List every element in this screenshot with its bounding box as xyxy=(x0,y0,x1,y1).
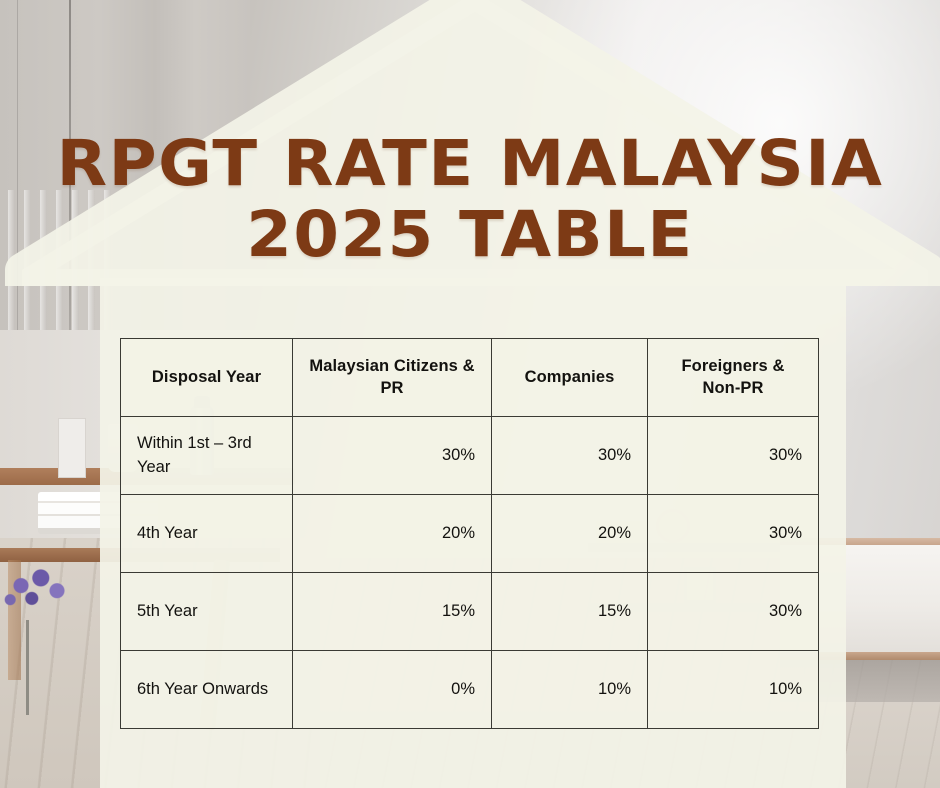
cell-foreigners-rate: 30% xyxy=(648,417,819,495)
table-row: 5th Year 15% 15% 30% xyxy=(121,573,819,651)
table-row: Within 1st – 3rd Year 30% 30% 30% xyxy=(121,417,819,495)
cell-foreigners-rate: 30% xyxy=(648,573,819,651)
table-row: 6th Year Onwards 0% 10% 10% xyxy=(121,651,819,729)
table-body: Within 1st – 3rd Year 30% 30% 30% 4th Ye… xyxy=(121,417,819,729)
flower-stand xyxy=(26,620,29,715)
cell-citizens-rate: 20% xyxy=(293,495,492,573)
purple-flowers xyxy=(0,560,84,624)
cell-companies-rate: 10% xyxy=(492,651,648,729)
cell-companies-rate: 15% xyxy=(492,573,648,651)
cell-disposal-year: Within 1st – 3rd Year xyxy=(121,417,293,495)
column-header-disposal-year: Disposal Year xyxy=(121,339,293,417)
table-row: 4th Year 20% 20% 30% xyxy=(121,495,819,573)
cell-companies-rate: 20% xyxy=(492,495,648,573)
cell-disposal-year: 6th Year Onwards xyxy=(121,651,293,729)
cell-foreigners-rate: 10% xyxy=(648,651,819,729)
table-header-row: Disposal Year Malaysian Citizens & PR Co… xyxy=(121,339,819,417)
cell-disposal-year: 5th Year xyxy=(121,573,293,651)
page-title: RPGT RATE MALAYSIA 2025 TABLE xyxy=(0,128,940,270)
column-header-companies: Companies xyxy=(492,339,648,417)
cell-citizens-rate: 0% xyxy=(293,651,492,729)
cell-disposal-year: 4th Year xyxy=(121,495,293,573)
column-header-malaysian-citizens: Malaysian Citizens & PR xyxy=(293,339,492,417)
cell-companies-rate: 30% xyxy=(492,417,648,495)
table-header: Disposal Year Malaysian Citizens & PR Co… xyxy=(121,339,819,417)
title-line-2: 2025 TABLE xyxy=(0,199,940,270)
title-line-1: RPGT RATE MALAYSIA xyxy=(0,128,940,199)
column-header-foreigners: Foreigners & Non-PR xyxy=(648,339,819,417)
cell-citizens-rate: 30% xyxy=(293,417,492,495)
photo-frame xyxy=(58,418,86,478)
rpgt-rate-table: Disposal Year Malaysian Citizens & PR Co… xyxy=(120,338,819,729)
cell-foreigners-rate: 30% xyxy=(648,495,819,573)
cell-citizens-rate: 15% xyxy=(293,573,492,651)
